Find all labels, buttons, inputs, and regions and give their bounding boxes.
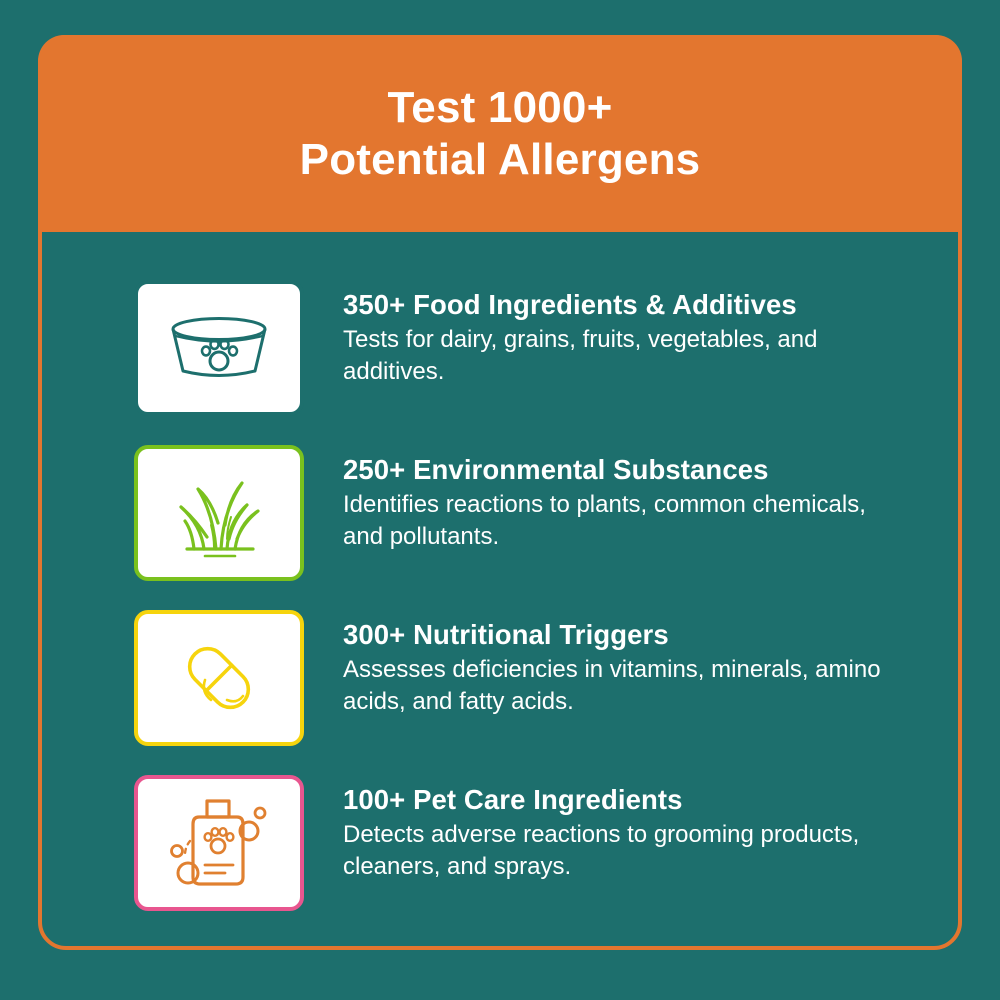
capsule-pill-icon: [165, 628, 273, 728]
list-item: 350+ Food Ingredients & Additives Tests …: [38, 272, 962, 437]
page-title-line-1: Test 1000+: [300, 82, 701, 134]
feature-title: 300+ Nutritional Triggers: [343, 618, 962, 651]
list-item: 100+ Pet Care Ingredients Detects advers…: [38, 767, 962, 932]
dog-bowl-icon: [155, 303, 283, 393]
feature-text-block: 300+ Nutritional Triggers Assesses defic…: [304, 602, 962, 718]
icon-card-nutritional: [134, 610, 304, 746]
feature-description: Identifies reactions to plants, common c…: [343, 489, 903, 553]
feature-title: 100+ Pet Care Ingredients: [343, 783, 962, 816]
feature-text-block: 100+ Pet Care Ingredients Detects advers…: [304, 767, 962, 883]
feature-description: Assesses deficiencies in vitamins, miner…: [343, 654, 903, 718]
feature-list: 350+ Food Ingredients & Additives Tests …: [38, 232, 962, 950]
icon-card-environmental: [134, 445, 304, 581]
grass-icon: [159, 465, 279, 561]
page-title: Test 1000+ Potential Allergens: [270, 82, 731, 186]
list-item: 250+ Environmental Substances Identifies…: [38, 437, 962, 602]
feature-title: 250+ Environmental Substances: [343, 453, 962, 486]
page-title-line-2: Potential Allergens: [300, 134, 701, 186]
feature-text-block: 250+ Environmental Substances Identifies…: [304, 437, 962, 553]
feature-title: 350+ Food Ingredients & Additives: [343, 288, 962, 321]
feature-text-block: 350+ Food Ingredients & Additives Tests …: [304, 272, 962, 388]
shampoo-bottle-paw-icon: [163, 791, 275, 895]
feature-description: Tests for dairy, grains, fruits, vegetab…: [343, 324, 903, 388]
icon-card-petcare: [134, 775, 304, 911]
icon-card-food: [134, 280, 304, 416]
header-banner: Test 1000+ Potential Allergens: [38, 35, 962, 232]
list-item: 300+ Nutritional Triggers Assesses defic…: [38, 602, 962, 767]
feature-description: Detects adverse reactions to grooming pr…: [343, 819, 903, 883]
allergen-test-infographic: Test 1000+ Potential Allergens: [0, 0, 1000, 1000]
